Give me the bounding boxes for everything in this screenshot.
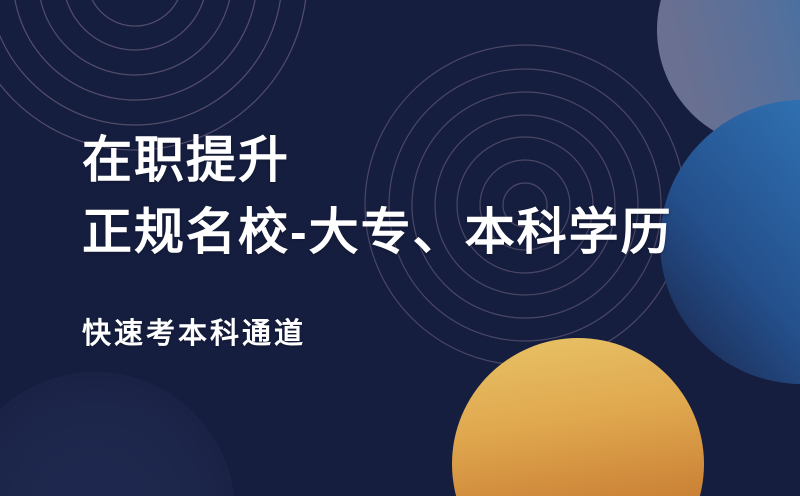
blue-sphere-lower [660,100,800,384]
soft-navy-circle [0,372,235,496]
blue-sphere-upper [657,0,800,148]
headline-block: 在职提升 正规名校-大专、本科学历 快速考本科通道 [82,126,673,354]
promo-banner: 在职提升 正规名校-大专、本科学历 快速考本科通道 [0,0,800,496]
headline-line-1: 在职提升 [82,126,673,194]
orange-sphere [452,338,704,496]
headline-line-2: 正规名校-大专、本科学历 [82,198,673,266]
subline-text: 快速考本科通道 [82,314,673,354]
